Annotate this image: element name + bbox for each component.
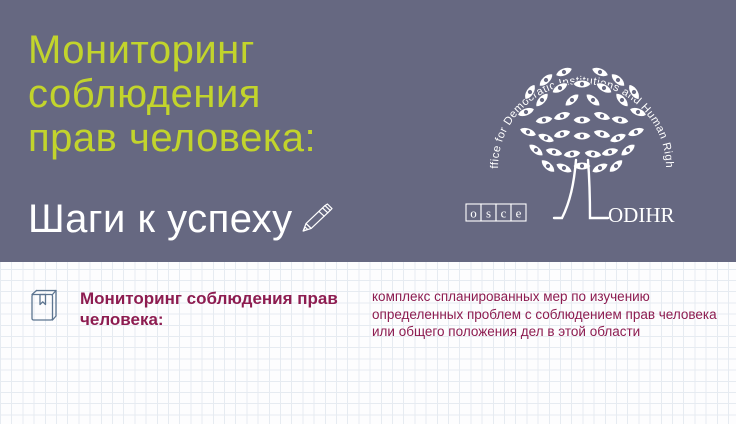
infographic-slide: Мониторинг соблюдения прав человека: Шаг… <box>0 0 736 424</box>
definition-text: комплекс спланированных мер по изучению … <box>372 288 722 341</box>
osce-odihr-logo: Office for Democratic Institutions and H… <box>462 36 702 248</box>
title-line-3: прав человека: <box>28 116 448 160</box>
definition-term: Мониторинг соблюдения прав человека: <box>80 288 360 330</box>
odihr-wordmark: ODIHR <box>608 203 675 227</box>
title-line-2: соблюдения <box>28 72 448 116</box>
book-icon <box>28 289 60 330</box>
page-title: Мониторинг соблюдения прав человека: <box>28 28 448 160</box>
osce-wordmark: o s c e <box>466 204 526 221</box>
pencil-icon <box>299 203 333 238</box>
svg-text:c: c <box>501 206 507 221</box>
title-line-1: Мониторинг <box>28 28 448 72</box>
svg-text:o: o <box>470 206 477 221</box>
svg-text:s: s <box>486 206 491 221</box>
header-band: Мониторинг соблюдения прав человека: Шаг… <box>0 0 736 262</box>
page-subtitle: Шаги к успеху <box>28 196 293 242</box>
subtitle-row: Шаги к успеху <box>28 196 333 242</box>
definition-row: Мониторинг соблюдения прав человека: ком… <box>0 262 736 382</box>
svg-text:e: e <box>516 206 522 221</box>
tree-crown-icon <box>516 65 648 175</box>
